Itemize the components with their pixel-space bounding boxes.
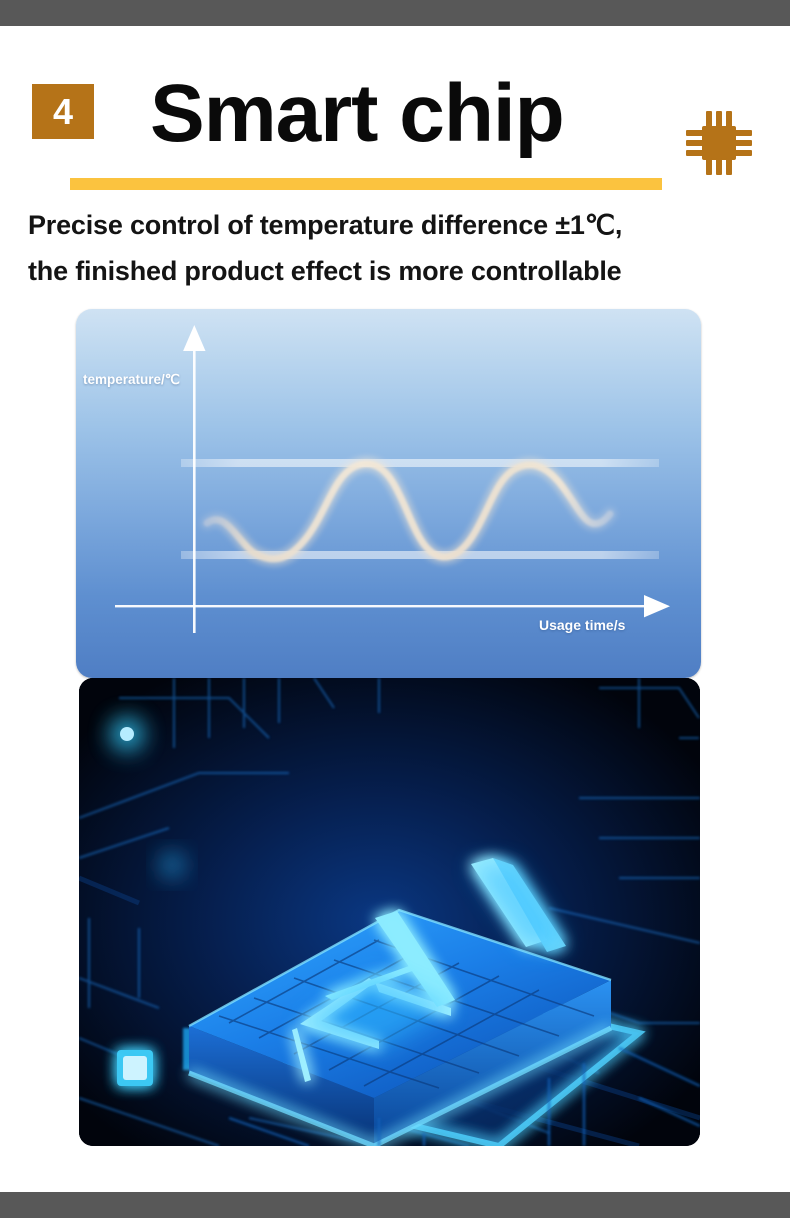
temperature-chart-panel: temperature/℃ +1℃ -1℃ Usage time/s (76, 309, 701, 678)
bottom-bar (0, 1192, 790, 1218)
subtitle-line-1: Precise control of temperature differenc… (28, 202, 768, 248)
y-axis-arrow (183, 325, 205, 351)
top-bar (0, 0, 790, 26)
subtitle-line-2: the finished product effect is more cont… (28, 248, 768, 294)
x-axis-line (115, 605, 654, 607)
x-axis-arrow (644, 595, 670, 617)
subtitle: Precise control of temperature differenc… (28, 202, 768, 294)
upper-tolerance-band (181, 459, 659, 467)
slide-page: 4 Smart chip (0, 0, 790, 1218)
ai-chip-photo (79, 678, 700, 1146)
title-underline-rule (70, 178, 662, 190)
section-number-badge: 4 (32, 84, 94, 139)
page-title: Smart chip (150, 62, 660, 166)
header: 4 Smart chip (0, 26, 790, 176)
cpu-chip-icon (682, 108, 756, 178)
y-axis-line (193, 339, 196, 633)
x-axis-label: Usage time/s (539, 617, 625, 633)
temperature-wave (207, 464, 610, 559)
y-axis-label: temperature/℃ (83, 372, 180, 388)
